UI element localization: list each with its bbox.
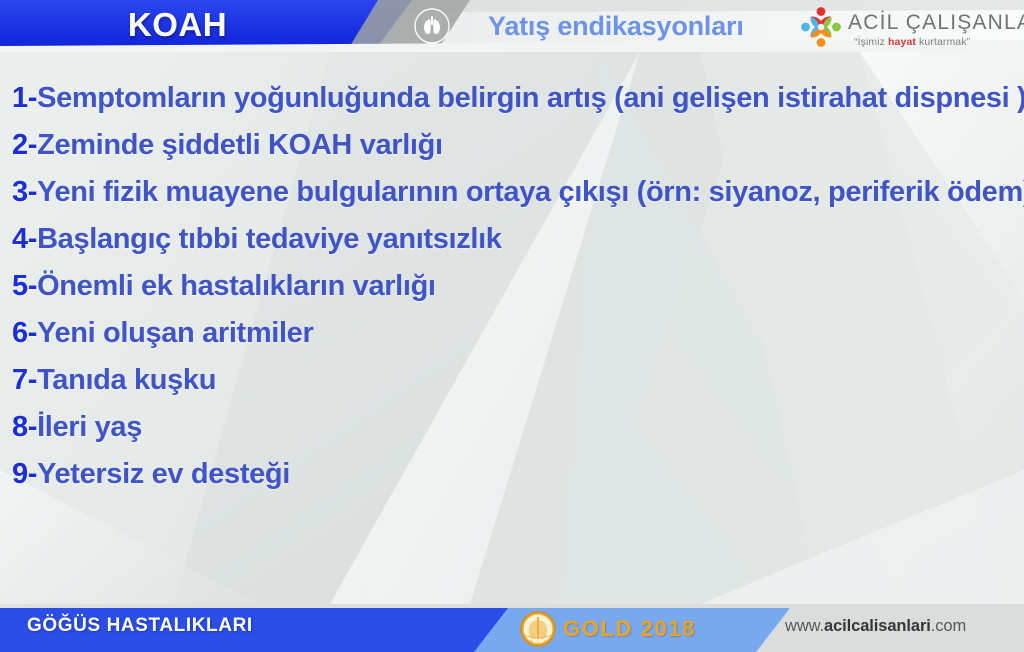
list-item-text: Başlangıç tıbbi tedaviye yanıtsızlık: [37, 223, 501, 255]
list-item-text: Yeni oluşan aritmiler: [37, 317, 313, 349]
tagline-suffix: kurtarmak”: [916, 36, 970, 48]
list-item: 5-Önemli ek hastalıkların varlığı: [12, 270, 436, 303]
tagline-prefix: “İşimiz: [854, 36, 888, 48]
list-item-number: 3-: [12, 176, 37, 208]
gold-globe-lung-emblem-icon: [519, 610, 557, 648]
section-title: Yatış endikasyonları: [488, 4, 744, 48]
list-item: 8-İleri yaş: [12, 411, 142, 444]
list-item: 3-Yeni fizik muayene bulgularının ortaya…: [12, 176, 1024, 209]
list-item-number: 6-: [12, 317, 37, 349]
department-label: GÖĞÜS HASTALIKLARI: [27, 615, 253, 637]
list-item: 2-Zeminde şiddetli KOAH varlığı: [12, 129, 443, 162]
slide: KOAH Yatış endikasyonları: [0, 0, 1024, 652]
brand-logo: ACİL ÇALIŞANLARI “İşimiz hayat kurtarmak…: [798, 3, 1018, 51]
list-item-number: 7-: [12, 364, 37, 396]
url-suffix: .com: [931, 617, 966, 635]
url-prefix: www.: [785, 617, 824, 635]
list-item-number: 2-: [12, 129, 37, 161]
lungs-icon: [411, 5, 453, 47]
footer-bar: GÖĞÜS HASTALIKLARI: [0, 604, 1024, 652]
list-item: 7-Tanıda kuşku: [12, 364, 216, 397]
list-item: 6-Yeni oluşan aritmiler: [12, 317, 313, 350]
brand-name: ACİL ÇALIŞANLARI: [848, 11, 1024, 35]
list-item-text: İleri yaş: [37, 411, 142, 443]
topic-title: KOAH: [95, 1, 260, 49]
list-item-number: 5-: [12, 270, 37, 302]
list-item: 4-Başlangıç tıbbi tedaviye yanıtsızlık: [12, 223, 502, 256]
list-item-text: Tanıda kuşku: [37, 364, 216, 396]
brand-tagline: “İşimiz hayat kurtarmak”: [854, 36, 970, 48]
url-brand: acilcalisanlari: [824, 617, 931, 635]
people-pinwheel-logo-icon: [798, 4, 844, 50]
gold-2018-logo: GOLD 2018: [519, 608, 709, 650]
list-item-text: Önemli ek hastalıkların varlığı: [37, 270, 436, 302]
header-bar: KOAH Yatış endikasyonları: [0, 0, 1024, 52]
list-item-text: Zeminde şiddetli KOAH varlığı: [37, 129, 443, 161]
website-url[interactable]: www.acilcalisanlari.com: [785, 617, 966, 636]
list-item-number: 1-: [12, 82, 37, 114]
list-item: 1-Semptomların yoğunluğunda belirgin art…: [12, 82, 1024, 115]
list-item-number: 9-: [12, 458, 37, 490]
list-item-number: 4-: [12, 223, 37, 255]
list-item-text: Yeni fizik muayene bulgularının ortaya ç…: [37, 176, 1024, 208]
list-item: 9-Yetersiz ev desteği: [12, 458, 290, 491]
list-item-number: 8-: [12, 411, 37, 443]
gold-2018-text: GOLD 2018: [563, 616, 696, 642]
tagline-accent: hayat: [888, 36, 916, 48]
list-item-text: Semptomların yoğunluğunda belirgin artış…: [37, 82, 1024, 114]
list-item-text: Yetersiz ev desteği: [37, 458, 290, 490]
